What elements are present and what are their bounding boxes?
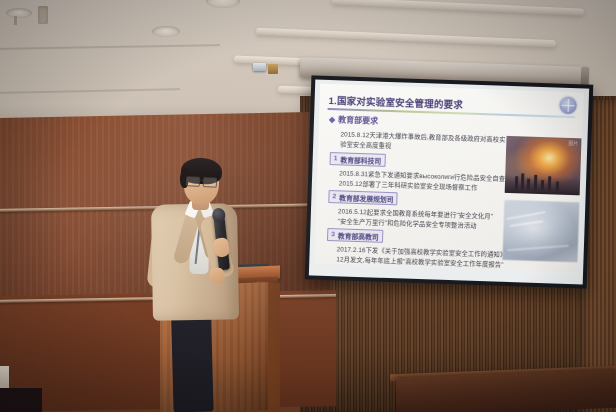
photo-streak bbox=[507, 245, 569, 251]
ceiling-seam bbox=[0, 88, 180, 94]
glasses-icon bbox=[186, 176, 218, 187]
ceiling-sprinkler-icon bbox=[38, 6, 48, 24]
explosion-photo: 图片 bbox=[505, 136, 582, 195]
section-number: 2 bbox=[332, 193, 336, 200]
section-number: 3 bbox=[331, 231, 335, 238]
section-heading: 教育部发展规划司 bbox=[339, 192, 394, 204]
photo-tower bbox=[527, 179, 530, 190]
section-number: 1 bbox=[334, 155, 338, 162]
presenter-lower-hand bbox=[209, 268, 224, 285]
photo-watermark: 图片 bbox=[568, 140, 578, 147]
photo-streak bbox=[510, 220, 544, 226]
presentation-slide: 1.国家对实验室安全管理的要求 ◆教育部要求 2015.8.12天津港大爆炸事故… bbox=[314, 84, 584, 273]
photo-tower bbox=[556, 182, 559, 191]
photo-tower bbox=[534, 175, 537, 190]
wall-speaker-icon bbox=[268, 64, 278, 74]
section-heading: 教育部高教司 bbox=[338, 230, 379, 241]
photo-tower bbox=[521, 173, 525, 189]
slide-section-box-1: 1教育部科技司 bbox=[329, 152, 385, 167]
foreground-paper bbox=[0, 366, 9, 388]
photo-tower bbox=[541, 180, 544, 190]
university-emblem-icon bbox=[559, 97, 577, 115]
bullet-heading-label: 教育部要求 bbox=[338, 115, 378, 125]
ceiling-troffer-light bbox=[332, 0, 584, 16]
glasses-lens-left bbox=[186, 176, 201, 187]
aftermath-aerial-photo bbox=[502, 200, 579, 262]
diamond-bullet-icon: ◆ bbox=[329, 115, 335, 124]
wall-control-panel-icon[interactable] bbox=[253, 63, 266, 71]
recessed-downlight-icon bbox=[6, 8, 32, 18]
photo-streak bbox=[506, 211, 546, 219]
foreground-chair-back bbox=[0, 388, 42, 412]
projection-screen: 1.国家对实验室安全管理的要求 ◆教育部要求 2015.8.12天津港大爆炸事故… bbox=[305, 75, 594, 288]
photo-tower bbox=[548, 176, 551, 190]
microphone-head bbox=[212, 208, 226, 223]
ceiling-seam bbox=[0, 44, 220, 50]
lecture-hall-photo: 1.国家对实验室安全管理的要求 ◆教育部要求 2015.8.12天津港大爆炸事故… bbox=[0, 0, 616, 412]
ceiling-troffer-light bbox=[256, 28, 556, 48]
photo-tower bbox=[515, 176, 518, 189]
slide-section-box-3: 3教育部高教司 bbox=[327, 228, 383, 243]
section-heading: 教育部科技司 bbox=[340, 154, 381, 165]
slide-intro-line: 验室安全高度重视 bbox=[340, 139, 391, 150]
screen-surface: 1.国家对实验室安全管理的要求 ◆教育部要求 2015.8.12天津港大爆炸事故… bbox=[309, 80, 589, 285]
glasses-lens-right bbox=[203, 177, 218, 188]
front-table bbox=[395, 370, 616, 412]
recessed-downlight-icon bbox=[152, 26, 180, 37]
slide-section-box-2: 2教育部发展规划司 bbox=[328, 190, 398, 205]
slide-bullet-heading: ◆教育部要求 bbox=[329, 114, 378, 127]
presenter bbox=[150, 160, 280, 412]
recessed-downlight-icon bbox=[206, 0, 240, 8]
